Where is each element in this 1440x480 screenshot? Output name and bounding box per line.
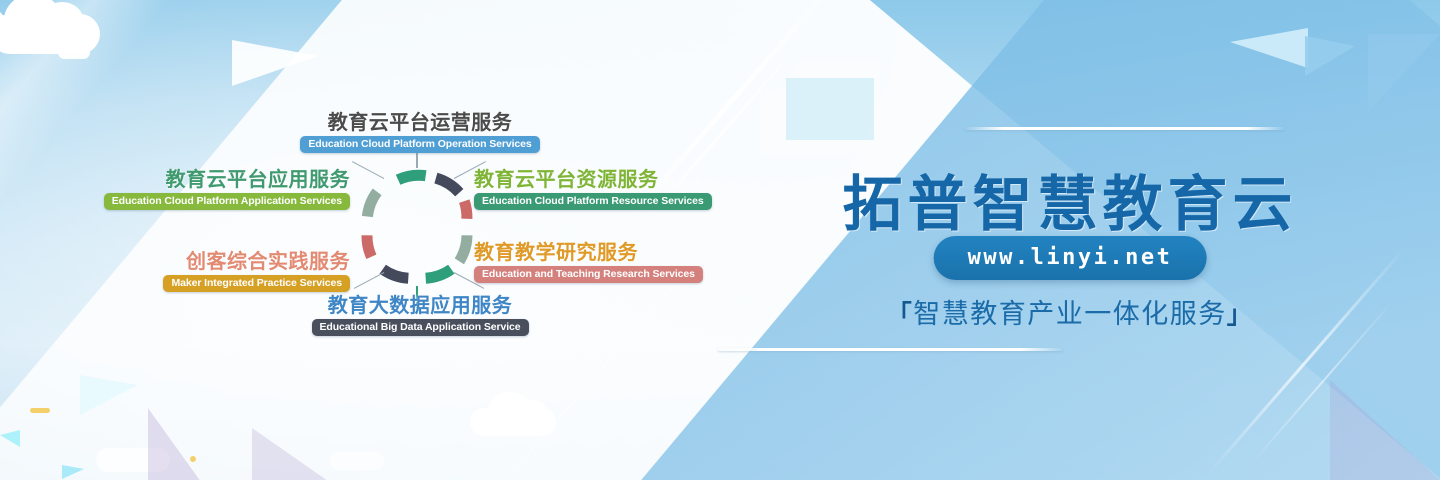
page-title: 拓普智慧教育云: [700, 156, 1440, 243]
tagline: 「智慧教育产业一体化服务」: [700, 292, 1440, 331]
ring-segment-right-upper: [464, 201, 467, 219]
ring-segment-bottom-right: [426, 269, 452, 278]
tagline-text: 智慧教育产业一体化服务: [913, 299, 1227, 329]
service-node-cn-label: 教育云平台运营服务: [250, 113, 590, 134]
ring-segment-top-right: [436, 178, 459, 193]
ring-segment-left-lower: [367, 235, 371, 256]
service-node-en-badge: Education Cloud Platform Resource Servic…: [474, 193, 712, 210]
ring-segment-bottom-left: [383, 269, 409, 278]
service-node-en-badge: Maker Integrated Practice Services: [163, 275, 350, 292]
service-node-cn-label: 教育云平台应用服务: [58, 170, 350, 191]
website-button[interactable]: www.linyi.net: [934, 236, 1207, 280]
service-node-en-badge: Education Cloud Platform Application Ser…: [104, 193, 350, 210]
service-node-en-badge: Education Cloud Platform Operation Servi…: [300, 136, 539, 153]
ring-segment-top-left: [398, 175, 426, 179]
ring-segment-right-lower: [459, 235, 467, 261]
service-node-cn-label: 创客综合实践服务: [58, 252, 350, 273]
bracket-open-icon: 「: [887, 301, 914, 329]
service-node-en-badge: Educational Big Data Application Service: [312, 319, 529, 336]
brand-panel: 拓普智慧教育云 www.linyi.net 「智慧教育产业一体化服务」: [700, 0, 1440, 480]
service-node-operation[interactable]: 教育云平台运营服务 Education Cloud Platform Opera…: [250, 113, 590, 153]
service-node-maker[interactable]: 创客综合实践服务 Maker Integrated Practice Servi…: [58, 252, 350, 292]
service-node-en-badge: Education and Teaching Research Services: [474, 266, 703, 283]
service-node-application[interactable]: 教育云平台应用服务 Education Cloud Platform Appli…: [58, 170, 350, 210]
service-node-bigdata[interactable]: 教育大数据应用服务 Educational Big Data Applicati…: [250, 296, 590, 336]
promo-banner: 教育云平台运营服务 Education Cloud Platform Opera…: [0, 0, 1440, 480]
service-node-cn-label: 教育大数据应用服务: [250, 296, 590, 317]
ring-segment-left-upper: [367, 192, 377, 217]
services-ring: [358, 168, 476, 286]
services-diagram: 教育云平台运营服务 Education Cloud Platform Opera…: [0, 0, 700, 480]
bracket-close-icon: 」: [1227, 301, 1254, 329]
ring-svg: [358, 168, 476, 286]
